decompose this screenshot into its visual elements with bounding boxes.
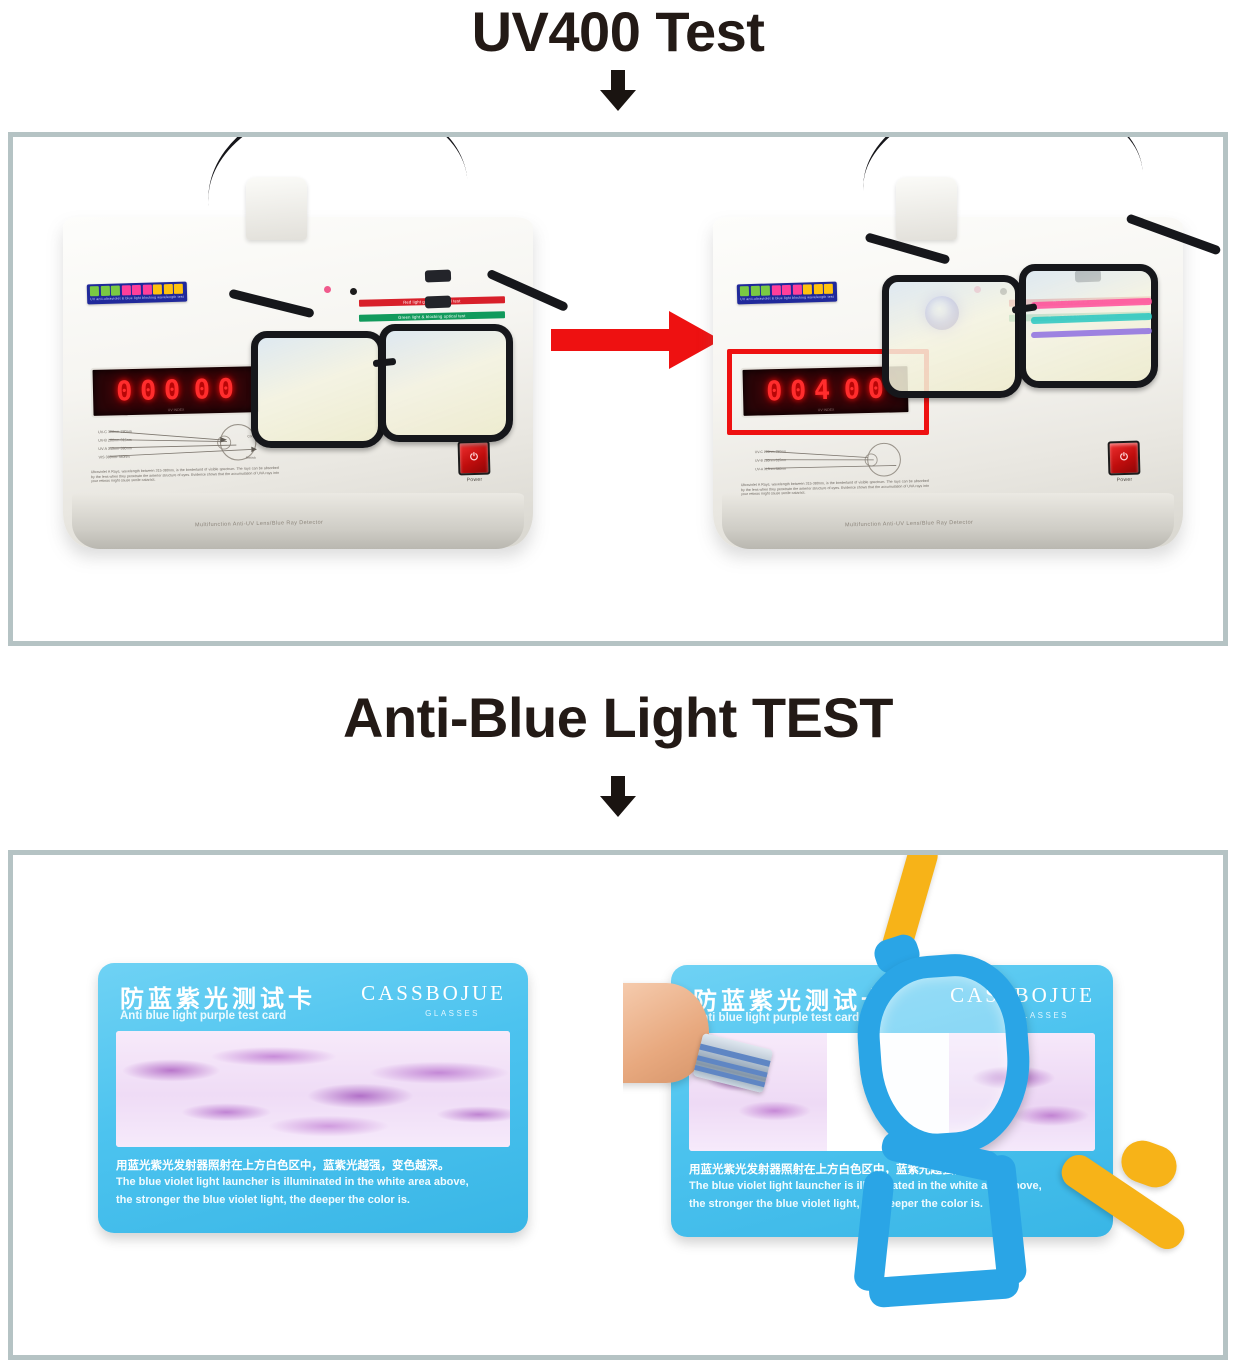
power-rocker[interactable]: ⏻ — [1107, 441, 1140, 476]
eye-diagram: UV-C 100nm-280nm UV-B 280nm-315nm UV-A 3… — [741, 439, 930, 483]
svg-text:UV-B 280nm-315nm: UV-B 280nm-315nm — [755, 458, 786, 463]
card-title-en: Anti blue light purple test card — [693, 1012, 859, 1024]
anti-blue-light-heading: Anti-Blue Light TEST — [0, 688, 1236, 748]
glasses-lens-left — [251, 331, 385, 448]
card-title-cn: 防蓝紫光测试卡 — [693, 981, 889, 1016]
svg-text:VIS 380nm-780nm: VIS 380nm-780nm — [99, 454, 130, 459]
uv400-test-panel: UV anti-ultraviolet & blue light blockin… — [8, 132, 1228, 646]
glasses-lens-right — [379, 324, 513, 441]
display-digit: 4 — [814, 375, 832, 406]
uv400-heading: UV400 Test — [0, 2, 1236, 62]
display-digit: 0 — [140, 375, 158, 406]
display-digit: 0 — [790, 375, 808, 406]
glasses-lens-right — [1019, 264, 1159, 388]
down-arrow-icon — [596, 70, 640, 112]
wavelength-led-strip: UV anti-ultraviolet & blue light blockin… — [86, 282, 186, 305]
anti-blue-light-test-panel: 防蓝紫光测试卡 Anti blue light purple test card… — [8, 850, 1228, 1360]
right-arrow-icon — [551, 309, 723, 371]
card-footer-cn: 用蓝光紫光发射器照射在上方白色区中，蓝紫光越强，变色越深。 — [116, 1157, 450, 1173]
card-footer-en-line2: the stronger the blue violet light, the … — [689, 1197, 1099, 1212]
blue-test-photo-right: 防蓝紫光测试卡 Anti blue light purple test card… — [623, 855, 1223, 1355]
svg-text:UV-B 280nm-315nm: UV-B 280nm-315nm — [98, 438, 132, 443]
card-footer-en-line2: the stronger the blue violet light, the … — [116, 1193, 516, 1208]
display-digit: 0 — [844, 374, 862, 405]
power-symbol: ⏻ — [470, 453, 478, 463]
display-digit: 0 — [164, 375, 182, 406]
glasses-left — [251, 290, 542, 448]
svg-text:UV-C 100nm-280nm: UV-C 100nm-280nm — [755, 450, 787, 455]
infographic-page: UV400 Test — [0, 0, 1236, 1364]
down-arrow-icon — [596, 776, 640, 818]
display-digit: 0 — [116, 376, 134, 407]
card-title-cn: 防蓝紫光测试卡 — [120, 979, 316, 1014]
card-footer-en-line1: The blue violet light launcher is illumi… — [116, 1175, 516, 1190]
display-digit: 0 — [194, 374, 212, 405]
display-digit: 0 — [217, 373, 235, 404]
svg-text:UV-A 315nm-380nm: UV-A 315nm-380nm — [99, 446, 133, 451]
glasses-lens-left — [882, 275, 1022, 399]
test-card-left: 防蓝紫光测试卡 Anti blue light purple test card… — [98, 963, 528, 1233]
card-reactive-area-left — [116, 1031, 510, 1147]
uv-detector-right: UV anti-ultraviolet & blue light blockin… — [713, 217, 1183, 547]
svg-text:UV-C 100nm-280nm: UV-C 100nm-280nm — [98, 429, 132, 434]
power-symbol: ⏻ — [1120, 453, 1128, 463]
wavelength-led-strip: UV anti-ultraviolet & blue light blockin… — [736, 282, 836, 305]
display-digit: 0 — [766, 376, 784, 407]
card-brand-sub: GLASSES — [425, 1009, 480, 1018]
card-title-en: Anti blue light purple test card — [120, 1010, 286, 1022]
svg-text:Retina: Retina — [246, 455, 256, 459]
power-switch-right[interactable]: ⏻ Power — [1107, 441, 1140, 476]
blue-test-photo-left: 防蓝紫光测试卡 Anti blue light purple test card… — [13, 855, 623, 1355]
card-brand: CASSBOJUE — [361, 981, 506, 1006]
uv-reading-display-left: 0 0 0 0 0 UV INDEX — [91, 364, 261, 417]
purple-reaction-fill — [116, 1031, 510, 1147]
device-button-1[interactable] — [425, 269, 451, 282]
svg-text:UV-A 315nm-380nm: UV-A 315nm-380nm — [755, 467, 786, 472]
card-footer-en-line1: The blue violet light launcher is illumi… — [689, 1179, 1099, 1194]
